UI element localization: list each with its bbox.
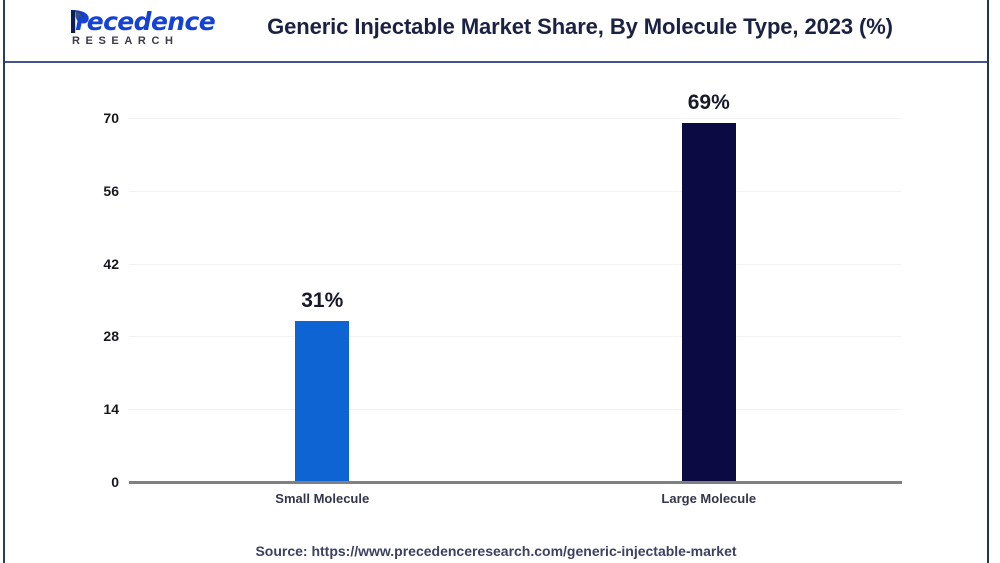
- y-axis-tick-label: 56: [59, 184, 119, 198]
- y-axis-tick-label: 28: [59, 329, 119, 343]
- page-title: Generic Injectable Market Share, By Mole…: [185, 14, 975, 40]
- x-axis-tick-label: Small Molecule: [232, 491, 412, 506]
- bar-value-label: 69%: [649, 91, 769, 115]
- source-caption: Source: https://www.precedenceresearch.c…: [5, 543, 987, 559]
- bar-large-molecule[interactable]: [682, 123, 736, 482]
- gridline: [129, 118, 902, 119]
- gridline: [129, 191, 902, 192]
- chart-page: recedence RESEARCH Generic Injectable Ma…: [0, 0, 1000, 563]
- precedence-research-logo: recedence RESEARCH: [17, 6, 177, 52]
- header-divider: [5, 61, 987, 63]
- plot-area: [129, 118, 902, 482]
- x-axis-line: [129, 481, 902, 484]
- y-axis-tick-label: 70: [59, 111, 119, 125]
- y-axis-tick-label: 42: [59, 257, 119, 271]
- logo-subtitle: RESEARCH: [72, 35, 179, 47]
- bar-small-molecule[interactable]: [295, 321, 349, 482]
- x-axis-tick-label: Large Molecule: [619, 491, 799, 506]
- gridline: [129, 409, 902, 410]
- frame-border-right: [987, 0, 989, 563]
- gridline: [129, 264, 902, 265]
- y-axis-tick-label: 0: [59, 475, 119, 489]
- chart-header: recedence RESEARCH Generic Injectable Ma…: [5, 0, 987, 62]
- gridline: [129, 336, 902, 337]
- y-axis-tick-label: 14: [59, 402, 119, 416]
- frame-border-left: [3, 0, 5, 563]
- bar-value-label: 31%: [262, 289, 382, 313]
